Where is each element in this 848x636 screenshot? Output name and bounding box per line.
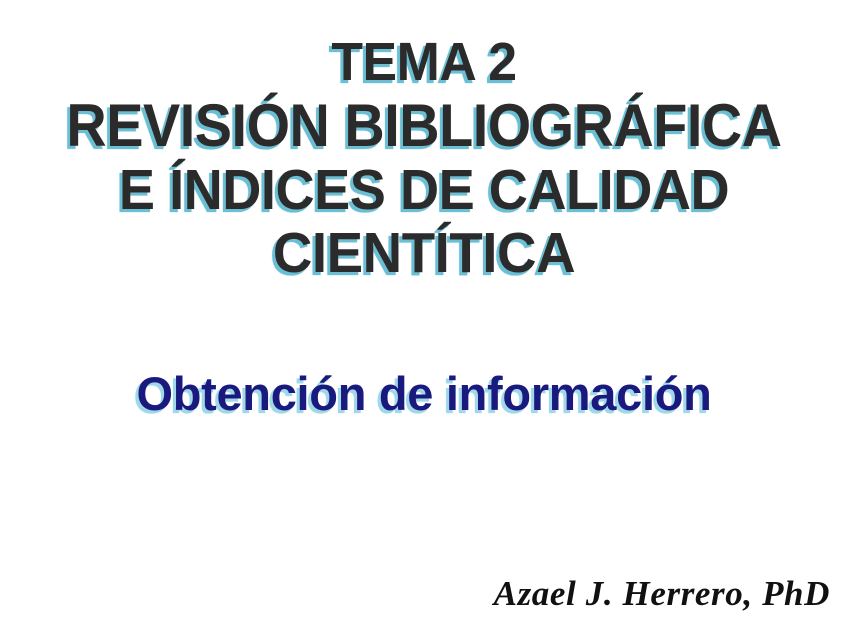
slide-subtitle: Obtención de información [0, 368, 848, 420]
title-line-2: REVISIÓN BIBLIOGRÁFICA [30, 94, 819, 158]
author-signature: Azael J. Herrero, PhD [494, 576, 830, 611]
title-line-4: CIENTÍTICA [17, 223, 831, 284]
slide-title-block: TEMA 2 REVISIÓN BIBLIOGRÁFICA E ÍNDICES … [0, 34, 848, 284]
presentation-slide: TEMA 2 REVISIÓN BIBLIOGRÁFICA E ÍNDICES … [0, 0, 848, 636]
title-line-1: TEMA 2 [17, 34, 831, 92]
title-line-3: E ÍNDICES DE CALIDAD [21, 160, 827, 221]
